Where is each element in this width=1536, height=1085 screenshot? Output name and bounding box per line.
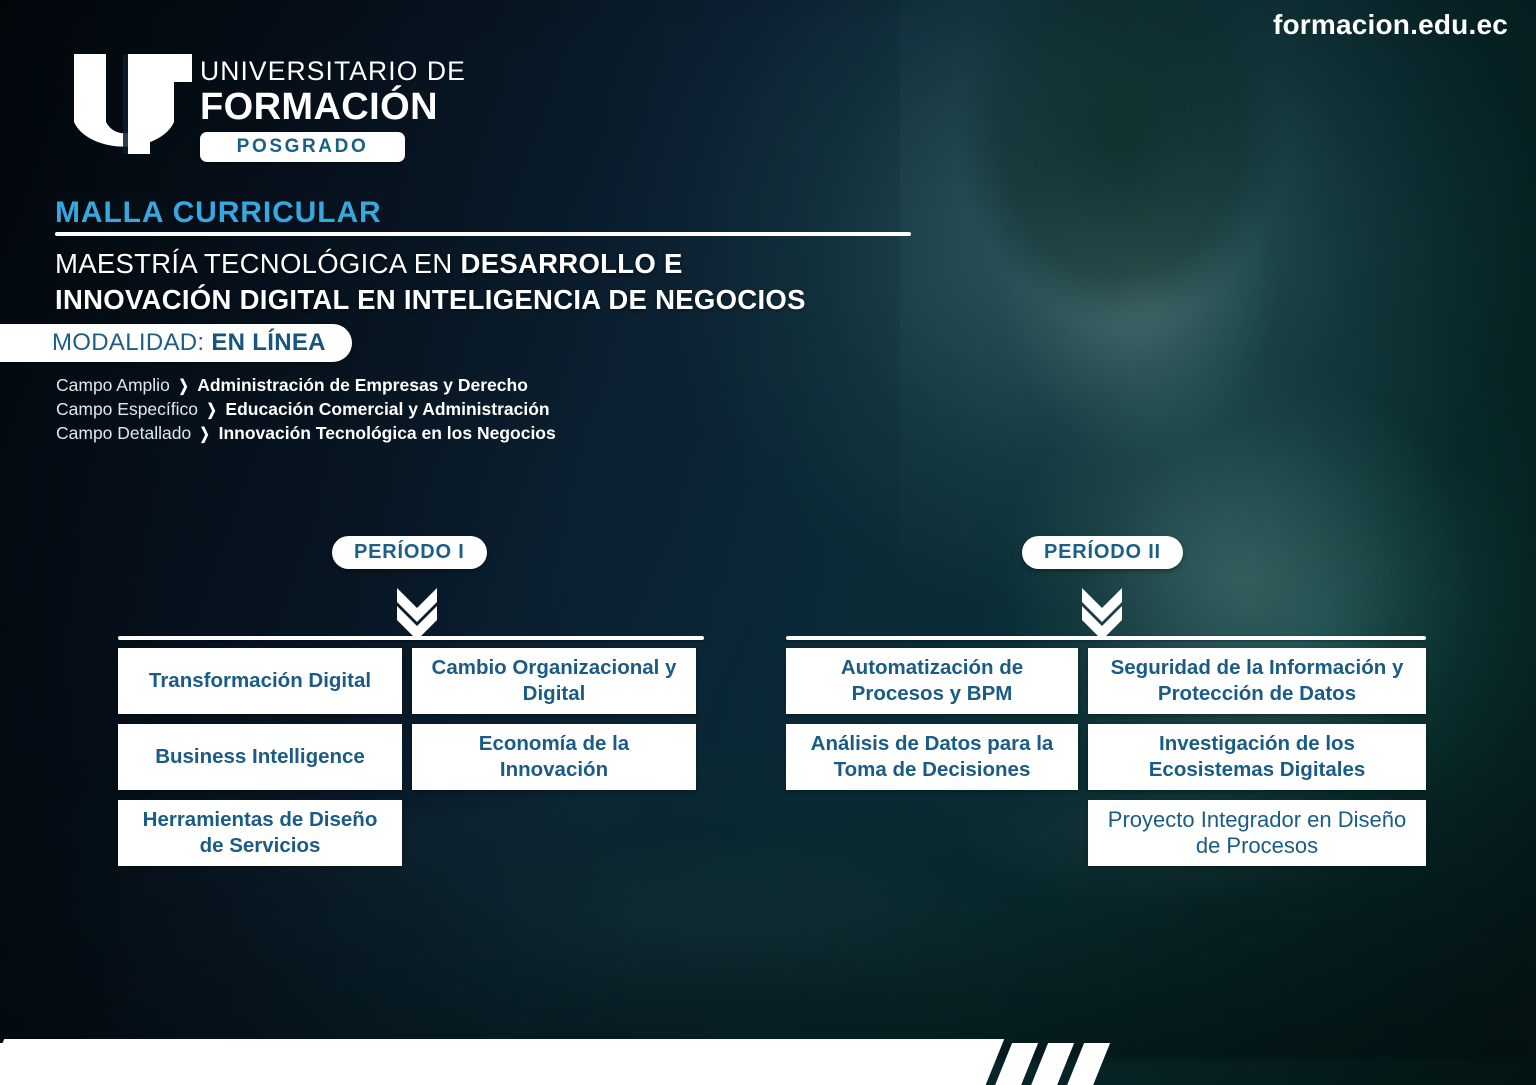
period-1-left-column: Transformación Digital Business Intellig… — [118, 648, 402, 866]
footer-white-angle — [0, 1039, 1004, 1085]
course-label: Herramientas de Diseño de Servicios — [128, 807, 392, 859]
course-label: Análisis de Datos para la Toma de Decisi… — [796, 731, 1068, 783]
course-card: Seguridad de la Información y Protección… — [1088, 648, 1426, 714]
period-2-badge: PERÍODO II — [1022, 536, 1183, 569]
posgrado-badge-label: POSGRADO — [237, 136, 369, 158]
posgrado-badge: POSGRADO — [200, 132, 405, 162]
field-label: Campo Detallado — [56, 423, 191, 444]
course-card: Transformación Digital — [118, 648, 402, 714]
period-2-divider — [786, 636, 1426, 640]
program-title-regular: MAESTRÍA TECNOLÓGICA EN — [55, 248, 461, 279]
course-card: Investigación de los Ecosistemas Digital… — [1088, 724, 1426, 790]
chevron-right-icon: ❯ — [178, 376, 188, 396]
chevron-right-icon: ❯ — [207, 400, 217, 420]
footer-website-url[interactable]: formacion.edu.ec — [1273, 9, 1508, 41]
modality-value: EN LÍNEA — [211, 329, 325, 357]
period-2-left-column: Automatización de Procesos y BPM Análisi… — [786, 648, 1078, 866]
course-label: Cambio Organizacional y Digital — [422, 655, 686, 707]
chevron-right-icon: ❯ — [200, 424, 210, 444]
course-card: Economía de la Innovación — [412, 724, 696, 790]
field-label: Campo Específico — [56, 399, 198, 420]
field-row: Campo Específico ❯ Educación Comercial y… — [56, 399, 556, 421]
poster-canvas: UNIVERSITARIO DE FORMACIÓN POSGRADO MALL… — [0, 0, 1536, 1085]
period-2-right-column: Seguridad de la Información y Protección… — [1088, 648, 1426, 866]
course-label: Seguridad de la Información y Protección… — [1098, 655, 1416, 707]
brand-line-1: UNIVERSITARIO DE — [200, 56, 466, 86]
course-label: Transformación Digital — [149, 668, 371, 694]
course-label: Economía de la Innovación — [422, 731, 686, 783]
field-row: Campo Amplio ❯ Administración de Empresa… — [56, 375, 556, 397]
field-row: Campo Detallado ❯ Innovación Tecnológica… — [56, 423, 556, 445]
brand-line-2: FORMACIÓN — [200, 86, 466, 128]
program-title-line-1: MAESTRÍA TECNOLÓGICA EN DESARROLLO E — [55, 248, 683, 280]
period-1-badge: PERÍODO I — [332, 536, 487, 569]
course-card: Cambio Organizacional y Digital — [412, 648, 696, 714]
course-label: Automatización de Procesos y BPM — [796, 655, 1068, 707]
field-value: Innovación Tecnológica en los Negocios — [219, 423, 556, 444]
course-label: Investigación de los Ecosistemas Digital… — [1098, 731, 1416, 783]
course-card: Análisis de Datos para la Toma de Decisi… — [786, 724, 1078, 790]
double-chevron-down-icon — [1080, 586, 1124, 638]
period-2-label: PERÍODO II — [1044, 541, 1161, 564]
course-card: Business Intelligence — [118, 724, 402, 790]
period-1-right-column: Cambio Organizacional y Digital Economía… — [412, 648, 696, 866]
period-1-divider — [118, 636, 704, 640]
course-label: Proyecto Integrador en Diseño de Proceso… — [1098, 807, 1416, 859]
course-card: Proyecto Integrador en Diseño de Proceso… — [1088, 800, 1426, 866]
modality-label: MODALIDAD: — [52, 329, 204, 357]
period-1-label: PERÍODO I — [354, 541, 465, 564]
background-vignette — [0, 0, 1536, 1085]
page-eyebrow: MALLA CURRICULAR — [55, 196, 382, 230]
field-label: Campo Amplio — [56, 375, 170, 396]
course-card: Automatización de Procesos y BPM — [786, 648, 1078, 714]
program-title-line-2: INNOVACIÓN DIGITAL EN INTELIGENCIA DE NE… — [55, 284, 806, 316]
brand-logo: UNIVERSITARIO DE FORMACIÓN POSGRADO — [72, 52, 432, 162]
double-chevron-down-icon — [395, 586, 439, 638]
period-2-course-grid: Automatización de Procesos y BPM Análisi… — [786, 648, 1426, 866]
program-title-bold: DESARROLLO E — [461, 248, 683, 279]
course-label: Business Intelligence — [155, 744, 365, 770]
field-list: Campo Amplio ❯ Administración de Empresa… — [56, 375, 556, 447]
field-value: Educación Comercial y Administración — [225, 399, 549, 420]
modality-badge: MODALIDAD: EN LÍNEA — [0, 324, 352, 362]
field-value: Administración de Empresas y Derecho — [197, 375, 528, 396]
course-card: Herramientas de Diseño de Servicios — [118, 800, 402, 866]
period-1-course-grid: Transformación Digital Business Intellig… — [118, 648, 696, 866]
uf-monogram-icon — [72, 52, 194, 156]
footer-bar — [0, 1039, 1536, 1085]
header-divider — [55, 232, 911, 236]
